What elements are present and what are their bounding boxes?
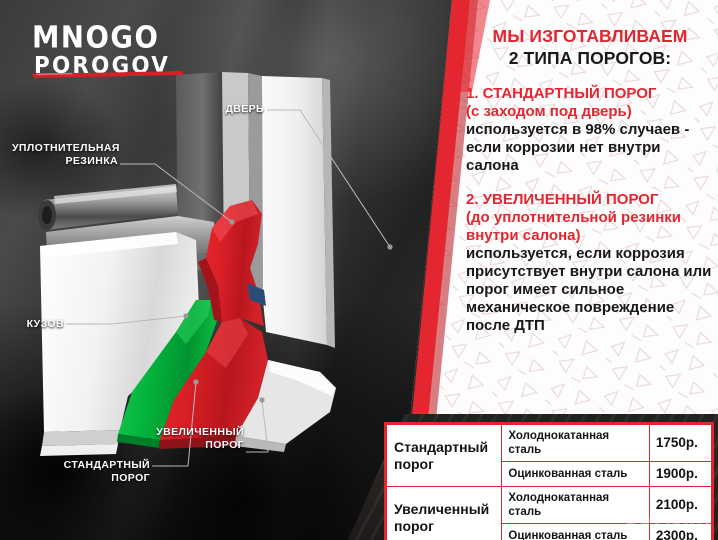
sill-type-body-enlarged: используется, если коррозия присутствует… bbox=[466, 245, 714, 335]
brand-logo-line-1: MNOGO bbox=[32, 19, 159, 55]
callout-label-door: ДВЕРЬ bbox=[176, 103, 264, 116]
info-copy: МЫ ИЗГОТАВЛИВАЕМ 2 ТИПА ПОРОГОВ: 1. СТАН… bbox=[466, 26, 714, 335]
callout-label-body: КУЗОВ bbox=[8, 318, 64, 331]
price-value: 1750р. bbox=[649, 425, 711, 462]
price-material: Оцинкованная сталь bbox=[502, 462, 649, 487]
price-category-standard: Стандартный порог bbox=[387, 425, 502, 487]
sill-type-subtitle-standard: (с заходом под дверь) bbox=[466, 103, 714, 121]
sill-type-title-standard: 1. СТАНДАРТНЫЙ ПОРОГ bbox=[466, 85, 714, 103]
callout-label-standard-sill: СТАНДАРТНЫЙ ПОРОГ bbox=[40, 459, 150, 484]
brand-logo: MNOGO POROGOV bbox=[32, 16, 202, 78]
table-row: Стандартный порог Холоднокатанная сталь … bbox=[387, 425, 712, 462]
price-material: Холоднокатанная сталь bbox=[502, 487, 649, 524]
headline-line-2: 2 ТИПА ПОРОГОВ: bbox=[466, 48, 714, 69]
callout-label-enlarged-sill: УВЕЛИЧЕННЫЙ ПОРОГ bbox=[140, 426, 244, 451]
price-category-enlarged: Увеличенный порог bbox=[387, 487, 502, 540]
sill-type-subtitle-enlarged: (до уплотнительной резинки внутри салона… bbox=[466, 209, 714, 245]
sill-type-body-standard: используется в 98% случаев - если корроз… bbox=[466, 121, 714, 175]
table-row: Увеличенный порог Холоднокатанная сталь … bbox=[387, 487, 712, 524]
price-material: Холоднокатанная сталь bbox=[502, 425, 649, 462]
sill-type-block-enlarged: 2. УВЕЛИЧЕННЫЙ ПОРОГ (до уплотнительной … bbox=[466, 191, 714, 335]
brand-logo-mark: MNOGO POROGOV bbox=[32, 16, 202, 78]
body-panel-bottom-lip bbox=[40, 444, 118, 456]
price-value: 2100р. bbox=[649, 487, 711, 524]
sill-type-block-standard: 1. СТАНДАРТНЫЙ ПОРОГ (с заходом под двер… bbox=[466, 85, 714, 175]
price-table: Стандартный порог Холоднокатанная сталь … bbox=[386, 424, 712, 540]
price-value: 1900р. bbox=[649, 462, 711, 487]
body-panel-bottom-edge bbox=[42, 430, 120, 446]
sill-type-title-enlarged: 2. УВЕЛИЧЕННЫЙ ПОРОГ bbox=[466, 191, 714, 209]
price-value: 2300р. bbox=[649, 524, 711, 540]
poster: УПЛОТНИТЕЛЬНАЯ РЕЗИНКА ДВЕРЬ КУЗОВ СТАНД… bbox=[0, 0, 718, 540]
weatherstrip-seal-bore bbox=[42, 206, 52, 224]
door-outer-skin bbox=[262, 76, 327, 345]
headline-line-1: МЫ ИЗГОТАВЛИВАЕМ bbox=[466, 26, 714, 47]
callout-label-seal: УПЛОТНИТЕЛЬНАЯ РЕЗИНКА bbox=[12, 142, 118, 167]
price-material: Оцинкованная сталь bbox=[502, 524, 649, 540]
